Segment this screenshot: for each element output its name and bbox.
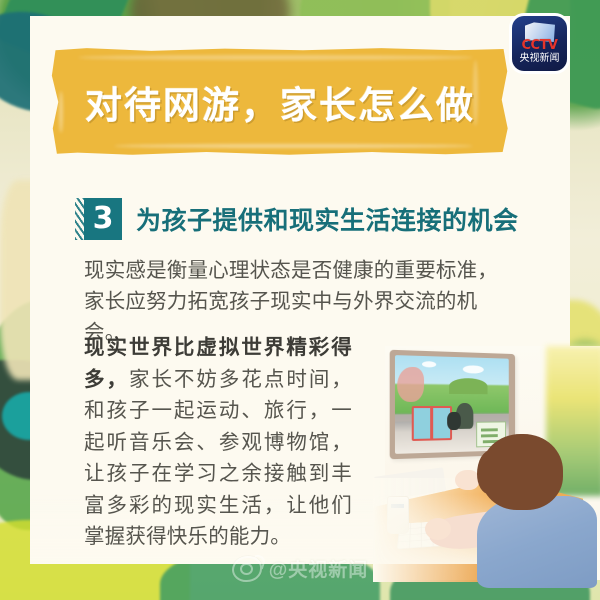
game-cloud xyxy=(422,361,436,367)
cctv-brand-cn-text: 央视新闻 xyxy=(512,49,567,64)
boy-hand xyxy=(425,518,451,540)
game-hill xyxy=(449,378,487,394)
game-smoke xyxy=(397,367,424,402)
poster-root: 对待网游，家长怎么做 CCTV 央视新闻 3 为孩子提供和现实生活连接的机会 现… xyxy=(0,0,600,600)
boy-hand xyxy=(455,470,479,490)
section-number-text: 3 xyxy=(93,204,114,234)
weibo-handle-text: @央视新闻 xyxy=(269,555,369,582)
page-title: 对待网游，家长怎么做 xyxy=(50,47,510,157)
boy-body xyxy=(477,496,597,588)
section-heading: 3 为孩子提供和现实生活连接的机会 xyxy=(84,198,519,240)
boy-hair xyxy=(477,450,503,494)
section-title-text: 为孩子提供和现实生活连接的机会 xyxy=(136,201,519,237)
weibo-icon xyxy=(232,556,262,582)
illustration-boy-at-computer xyxy=(385,346,600,580)
body-rest-text: 家长不妨多花点时间，和孩子一起运动、旅行，一起听音乐会、参观博物馆，让孩子在学习… xyxy=(84,368,352,549)
game-character xyxy=(447,412,461,430)
title-banner: 对待网游，家长怎么做 xyxy=(50,47,510,157)
section-number-badge: 3 xyxy=(84,198,122,240)
section-body-paragraph: 现实世界比虚拟世界精彩得多，家长不妨多花点时间，和孩子一起运动、旅行，一起听音乐… xyxy=(84,332,352,553)
cctv-news-logo: CCTV 央视新闻 xyxy=(512,16,567,71)
hatch-decoration xyxy=(75,198,86,240)
monitor-screen xyxy=(395,355,509,454)
game-cloud xyxy=(463,365,484,373)
